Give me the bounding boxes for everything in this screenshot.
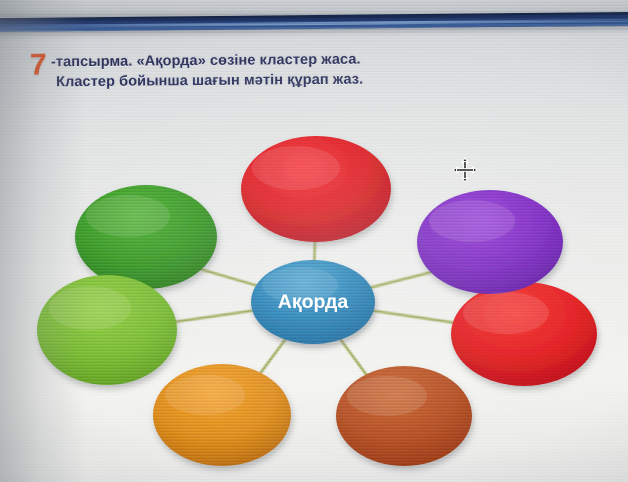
center-node-label: Ақорда xyxy=(278,291,349,313)
task-number: 7 xyxy=(30,50,47,80)
cluster-diagram: Ақорда xyxy=(0,112,628,482)
slide-photo: 7 -тапсырма. «Ақорда» сөзіне кластер жас… xyxy=(0,0,628,482)
cluster-diagram-canvas: Ақорда xyxy=(0,112,628,482)
task-heading: 7 -тапсырма. «Ақорда» сөзіне кластер жас… xyxy=(30,49,610,90)
